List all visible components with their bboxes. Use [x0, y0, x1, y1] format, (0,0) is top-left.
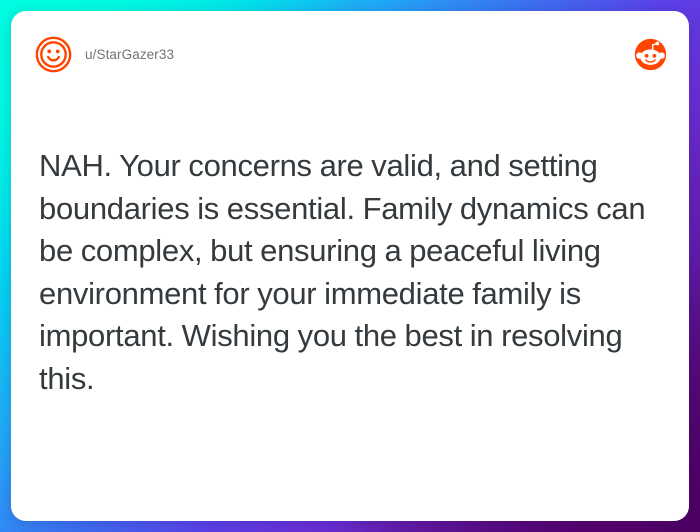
reddit-comment-card: u/StarGazer33	[11, 11, 689, 521]
screenshot-canvas: u/StarGazer33	[0, 0, 700, 532]
post-text: NAH. Your concerns are valid, and settin…	[39, 145, 663, 400]
username-label[interactable]: u/StarGazer33	[85, 47, 174, 62]
card-body: NAH. Your concerns are valid, and settin…	[11, 145, 689, 400]
smiley-face-avatar-icon	[35, 36, 72, 73]
card-header: u/StarGazer33	[11, 11, 689, 97]
reddit-snoo-logo-icon	[634, 38, 667, 71]
avatar[interactable]	[35, 36, 72, 73]
brand-logo[interactable]	[634, 38, 667, 71]
